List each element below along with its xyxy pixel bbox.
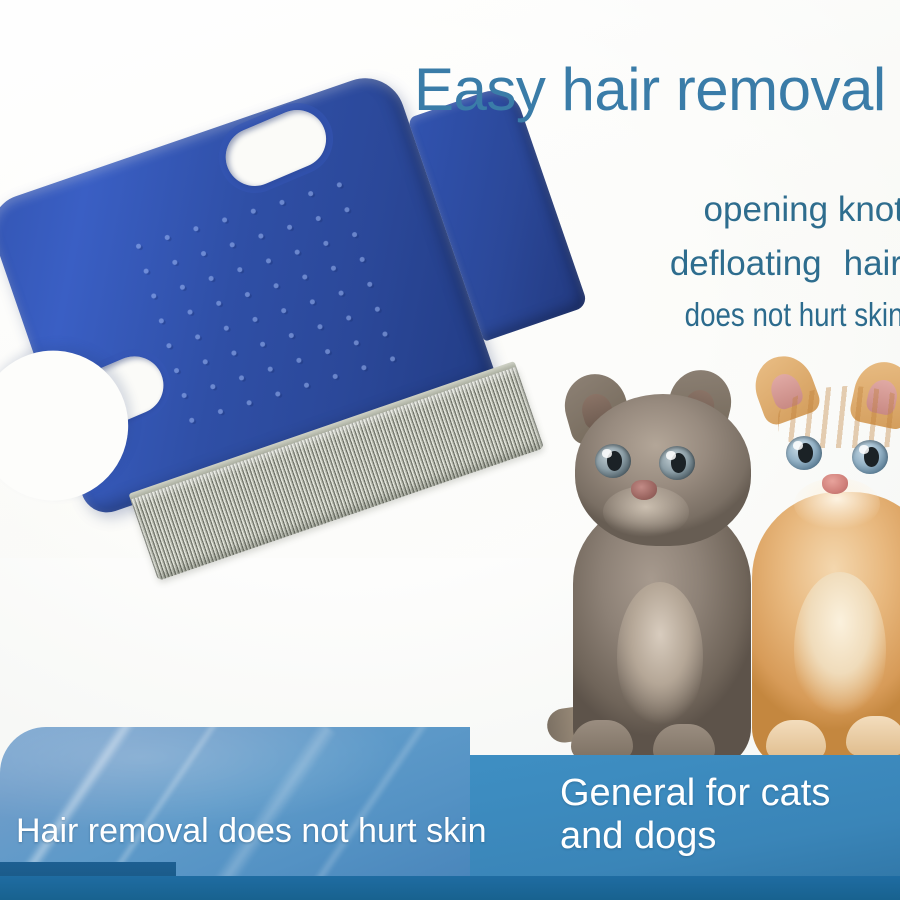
grey-kitten-chest — [617, 582, 703, 732]
feature-hair-word: hair — [844, 244, 900, 283]
grey-kitten-nose — [631, 480, 657, 500]
grey-kitten-eye-glint-right — [666, 451, 675, 459]
banner-tagline: General for cats and dogs — [560, 772, 830, 857]
banner-left-panel — [0, 727, 470, 877]
orange-kitten-eye-glint-left — [793, 441, 802, 449]
orange-kitten-eye-left — [786, 436, 822, 470]
tagline-line-2: and dogs — [560, 815, 830, 858]
grey-kitten-eye-left — [595, 444, 631, 478]
grey-kitten-paw-left — [571, 720, 633, 760]
orange-kitten-paw-left — [766, 720, 826, 760]
orange-kitten-chest — [794, 572, 886, 728]
feature-line-defloating-hair: defloatinghair — [670, 246, 900, 281]
feature-defloating-word: defloating — [670, 244, 822, 283]
orange-kitten-paw-right — [846, 716, 900, 756]
tagline-line-1: General for cats — [560, 772, 830, 815]
grey-kitten-eye-right — [659, 446, 695, 480]
grey-kitten-eye-glint-left — [602, 449, 611, 457]
grey-kitten — [545, 368, 775, 768]
product-marketing-poster: Easy hair removal opening knot defloatin… — [0, 0, 900, 900]
feature-line-opening-knot: opening knot — [704, 192, 900, 227]
flea-comb-product-image — [0, 60, 620, 670]
orange-kitten-eye-glint-right — [859, 445, 868, 453]
headline: Easy hair removal — [414, 58, 886, 121]
orange-kitten — [742, 352, 900, 768]
banner-base-strip — [0, 876, 900, 900]
orange-kitten-nose — [822, 474, 848, 494]
banner-caption: Hair removal does not hurt skin — [16, 812, 487, 851]
orange-kitten-eye-right — [852, 440, 888, 474]
feature-line-does-not-hurt-skin: does not hurt skin — [684, 298, 900, 331]
